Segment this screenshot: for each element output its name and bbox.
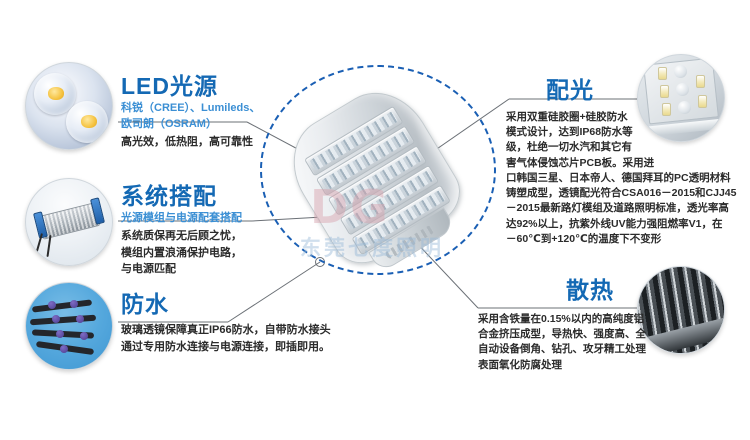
callout-heat-dissipation: 散热 采用含铁量在0.15%以内的高纯度铝 合金挤压成型，导热快、强度高、全 自…: [478, 262, 750, 372]
pcb-led: [696, 75, 705, 88]
callout-body-line: 采用双重硅胶圈+硅胶防水: [506, 110, 750, 125]
callout-body-line: 系统质保再无后顾之忧，: [121, 228, 242, 245]
callout-body-line: －2015最新路灯模组及道路照明标准，透光率高: [506, 201, 750, 216]
callout-body: 高光效，低热阻，高可靠性: [121, 134, 260, 151]
callout-title: 防水: [121, 292, 331, 316]
product-photo-area: [255, 55, 505, 295]
callout-body-line: 合金挤压成型，导热快、强度高、全: [478, 327, 728, 342]
chip-2: [81, 115, 97, 128]
led-lens-photo: [25, 62, 113, 150]
callout-body-line: 口韩国三星、日本帝人、德国拜耳的PC透明材料: [506, 171, 750, 186]
callout-body-line: 达92%以上，抗紫外线UV能力强阻燃率V1，在: [506, 217, 750, 232]
connector-node: [56, 330, 64, 338]
callout-body-line: 通过专用防水连接与电源连接，即插即用。: [121, 339, 331, 356]
connector-node: [60, 345, 68, 353]
waterproof-connector-photo: [25, 282, 113, 370]
driver-wire-1: [35, 233, 43, 255]
callout-led-source: LED光源 科锐（CREE）、Lumileds、 欧司朗（OSRAM） 高光效，…: [25, 58, 275, 168]
connector-node: [70, 300, 78, 308]
callout-body: 采用双重硅胶圈+硅胶防水 模式设计，达到IP68防水等 级，杜绝一切水汽和其它有…: [506, 110, 750, 247]
led-driver-photo: [25, 178, 113, 266]
callout-title: 散热: [566, 278, 614, 302]
cable-2: [30, 315, 96, 326]
callout-body-line: －60℃到+120℃的温度下不变形: [506, 232, 750, 247]
callout-subline-1: 科锐（CREE）、Lumileds、: [121, 101, 260, 117]
connector-node: [48, 301, 56, 309]
callout-body: 采用含铁量在0.15%以内的高纯度铝 合金挤压成型，导热快、强度高、全 自动设备…: [478, 312, 728, 373]
pcb-led: [698, 95, 707, 108]
callout-waterproof: 防水 玻璃透镜保障真正IP66防水，自带防水接头 通过专用防水连接与电源连接，即…: [25, 282, 325, 377]
infographic-canvas: DG 东莞七度照明 LED光源 科锐（CREE）、Lumileds、 欧司朗（O…: [0, 0, 750, 440]
callout-body-line: 害气体侵蚀芯片PCB板。采用进: [506, 156, 750, 171]
callout-body-line: 采用含铁量在0.15%以内的高纯度铝: [478, 312, 728, 327]
callout-title: 配光: [546, 78, 594, 102]
callout-body-line: 级，杜绝一切水汽和其它有: [506, 140, 750, 155]
callout-light-distribution: 配光 采用双重硅胶圈+硅胶防水 模式设计，达到IP68防水等 级，杜绝一切水汽和…: [500, 54, 750, 214]
callout-body-line: 铸塑成型，透镜配光符合CSA016－2015和CJJ45: [506, 186, 750, 201]
callout-body-line: 模式设计，达到IP68防水等: [506, 125, 750, 140]
callout-title: 系统搭配: [121, 184, 242, 208]
callout-body-line: 自动设备倒角、钻孔、攻牙精工处理: [478, 342, 728, 357]
pcb-lens: [676, 83, 689, 96]
connector-node: [76, 315, 84, 323]
connector-node: [80, 332, 88, 340]
pcb-led: [660, 85, 669, 98]
callout-subline-1: 光源模组与电源配套搭配: [121, 211, 242, 227]
callout-subline-2: 欧司朗（OSRAM）: [121, 117, 260, 133]
callout-body-line: 与电源匹配: [121, 261, 242, 278]
pcb-lens: [674, 65, 687, 78]
chip-1: [48, 87, 64, 100]
pcb-led: [658, 67, 667, 80]
callout-system-match: 系统搭配 光源模组与电源配套搭配 系统质保再无后顾之忧， 模组内置浪涌保护电路，…: [25, 178, 275, 278]
cable-1: [32, 299, 92, 312]
callout-body-line: 玻璃透镜保障真正IP66防水，自带防水接头: [121, 322, 331, 339]
callout-body-line: 表面氧化防腐处理: [478, 358, 728, 373]
connector-node: [52, 315, 60, 323]
callout-title: LED光源: [121, 74, 260, 98]
callout-body-line: 模组内置浪涌保护电路，: [121, 245, 242, 262]
